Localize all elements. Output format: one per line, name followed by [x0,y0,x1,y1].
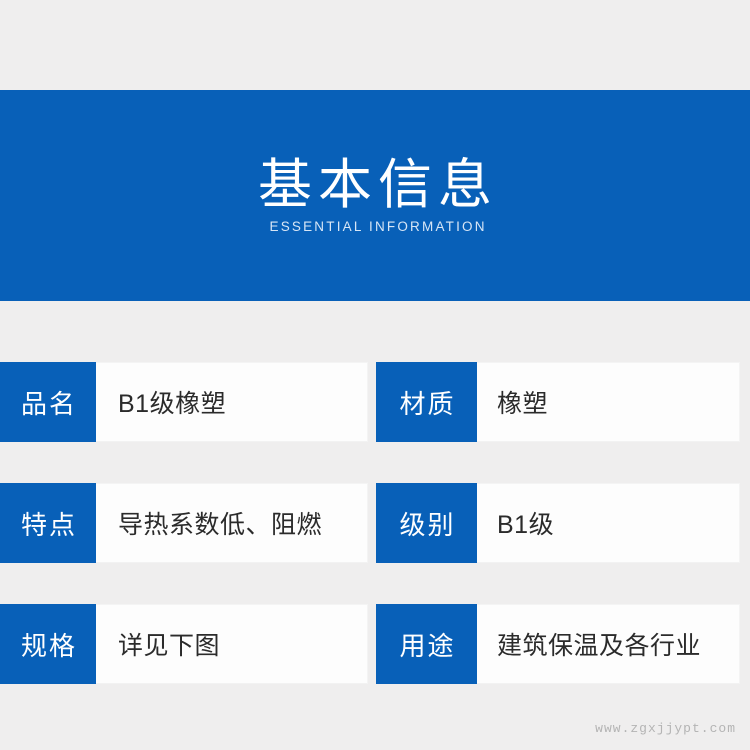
spec-value-grade: B1级 [477,483,740,563]
site-watermark: www.zgxjjypt.com [595,721,736,736]
spec-table: 品名 B1级橡塑 材质 橡塑 特点 导热系数低、阻燃 级别 B1级 规格 详见下… [0,362,750,684]
spec-value-application: 建筑保温及各行业 [477,604,740,684]
table-row: 规格 详见下图 用途 建筑保温及各行业 [0,604,750,684]
spec-label-application: 用途 [376,604,477,684]
spec-label-product-name: 品名 [0,362,96,442]
page-title: 基本信息 [252,157,498,214]
table-row: 品名 B1级橡塑 材质 橡塑 [0,362,750,442]
spec-cell-application: 用途 建筑保温及各行业 [376,604,740,684]
header-banner: 基本信息 ESSENTIAL INFORMATION [0,90,750,301]
spec-cell-features: 特点 导热系数低、阻燃 [0,483,368,563]
spec-value-features: 导热系数低、阻燃 [96,483,368,563]
spec-cell-specification: 规格 详见下图 [0,604,368,684]
spec-cell-material: 材质 橡塑 [376,362,740,442]
spec-label-material: 材质 [376,362,477,442]
table-row: 特点 导热系数低、阻燃 级别 B1级 [0,483,750,563]
spec-value-material: 橡塑 [477,362,740,442]
spec-value-product-name: B1级橡塑 [96,362,368,442]
spec-label-grade: 级别 [376,483,477,563]
spec-cell-product-name: 品名 B1级橡塑 [0,362,368,442]
spec-label-specification: 规格 [0,604,96,684]
page-subtitle: ESSENTIAL INFORMATION [267,219,486,234]
info-sheet-page: 基本信息 ESSENTIAL INFORMATION 品名 B1级橡塑 材质 橡… [0,0,750,750]
spec-cell-grade: 级别 B1级 [376,483,740,563]
spec-value-specification: 详见下图 [96,604,368,684]
spec-label-features: 特点 [0,483,96,563]
